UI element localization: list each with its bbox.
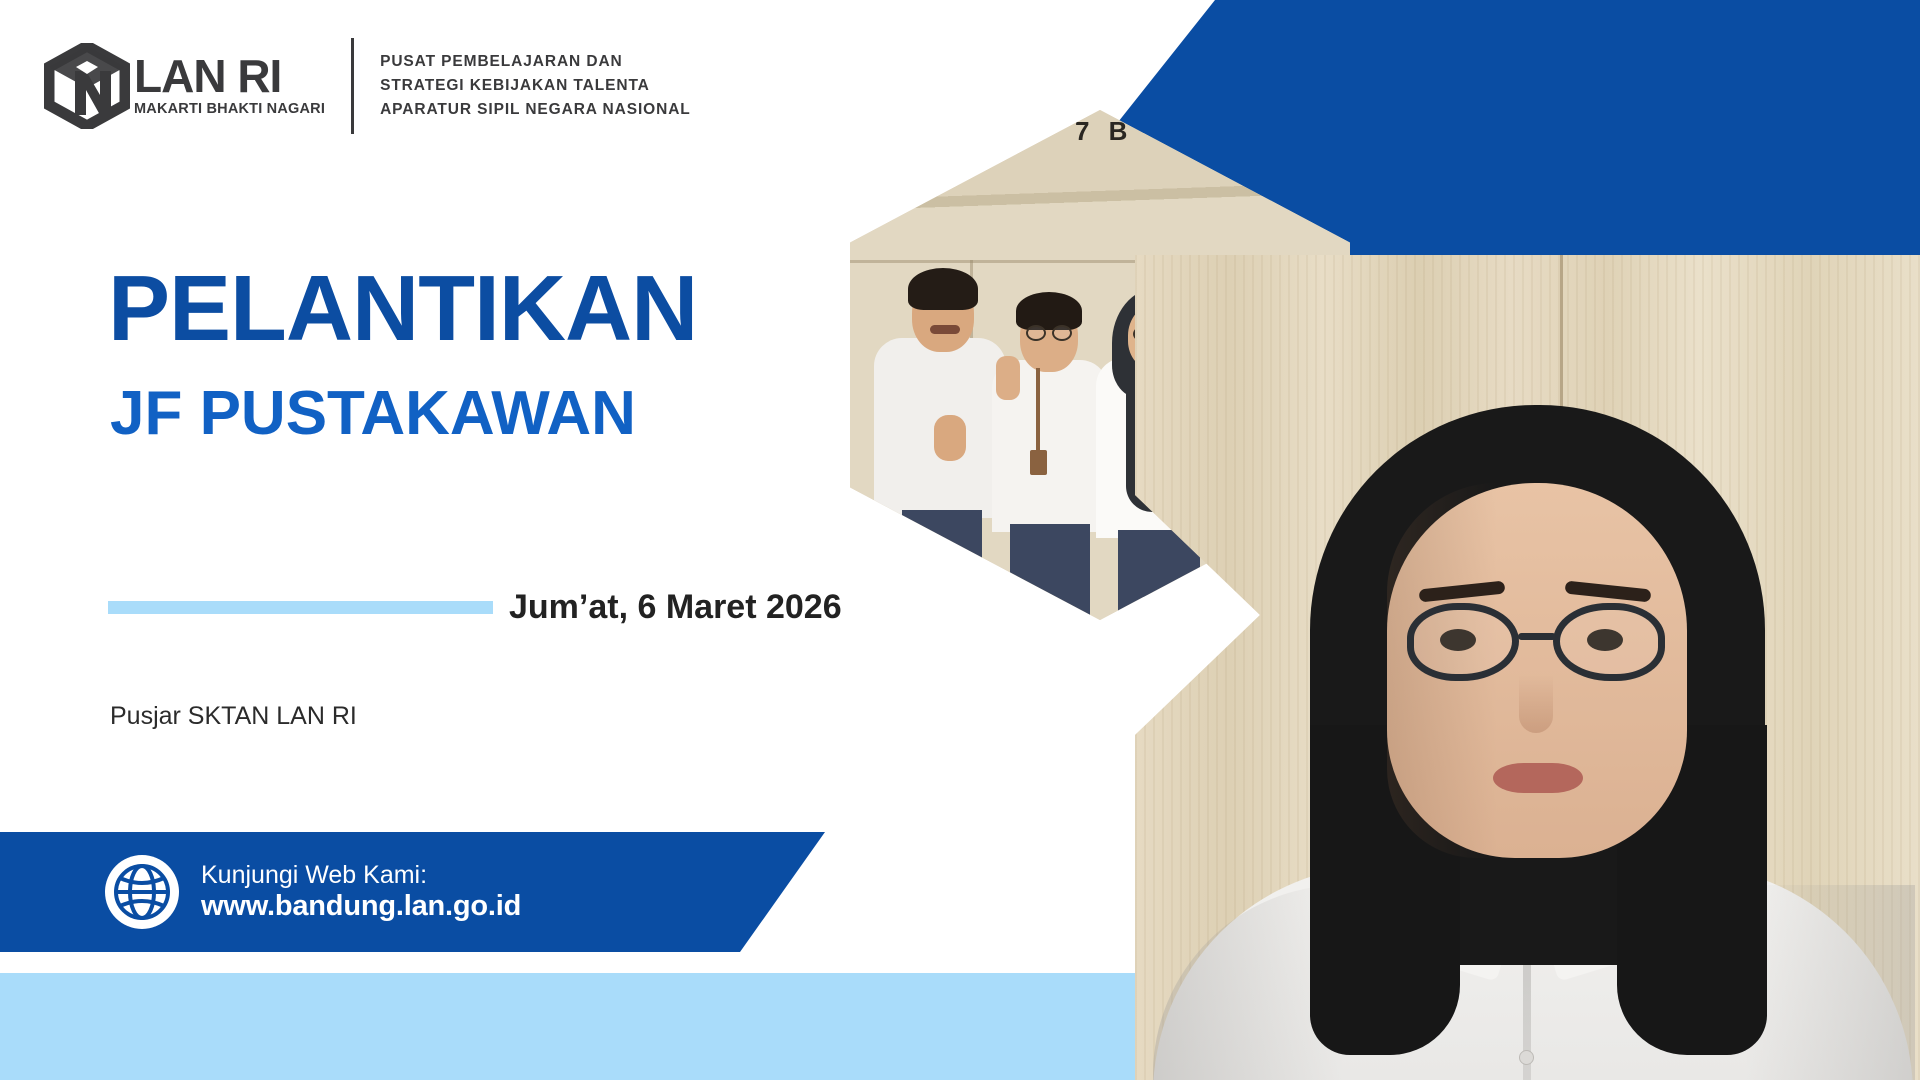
brand-header: LAN RI MAKARTI BHAKTI NAGARI PUSAT PEMBE… <box>44 38 691 134</box>
portrait-photo <box>1135 255 1920 1080</box>
eyeglasses-right-lens <box>1553 603 1665 681</box>
lan-ri-logo-icon <box>44 43 130 129</box>
logo-motto: MAKARTI BHAKTI NAGARI <box>134 101 325 117</box>
logo-name: LAN RI <box>134 55 325 99</box>
nose <box>1519 675 1553 733</box>
shirt-shade-right <box>1745 885 1915 1080</box>
event-date: Jum’at, 6 Maret 2026 <box>509 588 842 627</box>
web-banner-url[interactable]: www.bandung.lan.go.id <box>201 890 521 924</box>
logo-wordmark: LAN RI MAKARTI BHAKTI NAGARI <box>134 55 325 117</box>
event-date-row: Jum’at, 6 Maret 2026 <box>108 588 842 627</box>
globe-icon <box>105 855 179 929</box>
lips <box>1493 763 1583 793</box>
org-line-2: STRATEGI KEBIJAKAN TALENTA <box>380 74 691 98</box>
photo-collage: 7 B <box>910 0 1920 1080</box>
organization-name: PUSAT PEMBELAJARAN DAN STRATEGI KEBIJAKA… <box>380 50 691 122</box>
web-banner-texts: Kunjungi Web Kami: www.bandung.lan.go.id <box>201 861 521 924</box>
org-line-1: PUSAT PEMBELAJARAN DAN <box>380 50 691 74</box>
web-banner[interactable]: Kunjungi Web Kami: www.bandung.lan.go.id <box>0 832 825 952</box>
header-divider <box>351 38 354 134</box>
page-title: PELANTIKAN <box>108 262 697 355</box>
page-subtitle: JF PUSTAKAWAN <box>110 383 636 445</box>
shirt-button <box>1519 1050 1534 1065</box>
eyeglasses-bridge <box>1518 633 1556 640</box>
org-line-3: APARATUR SIPIL NEGARA NASIONAL <box>380 98 691 122</box>
eyeglasses-left-lens <box>1407 603 1519 681</box>
web-banner-label: Kunjungi Web Kami: <box>201 861 521 890</box>
event-organizer: Pusjar SKTAN LAN RI <box>110 702 357 731</box>
date-rule <box>108 601 493 614</box>
